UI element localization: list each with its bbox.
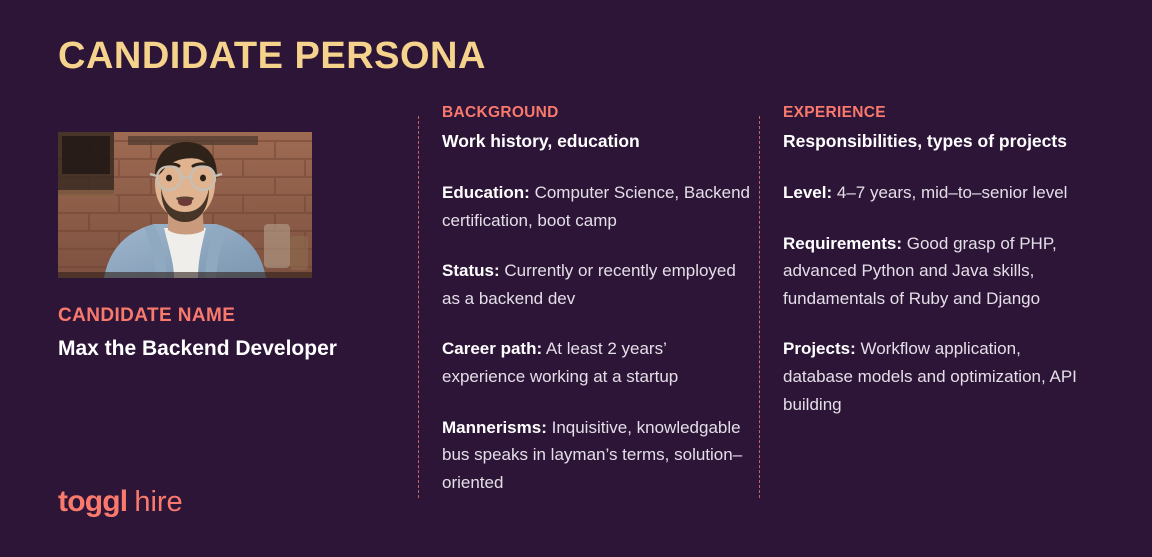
column-divider-2 [759,116,760,498]
entry-list: Education: Computer Science, Backend cer… [442,179,754,496]
entry-item: Status: Currently or recently employed a… [442,257,754,312]
logo-secondary-text: hire [134,488,182,517]
entry-label: Projects: [783,339,856,358]
column-kicker: BACKGROUND [442,104,754,123]
entry-label: Requirements: [783,234,902,253]
entry-item: Education: Computer Science, Backend cer… [442,179,754,234]
entry-label: Status: [442,261,500,280]
candidate-name-value: Max the Backend Developer [58,336,398,362]
entry-text: 4–7 years, mid–to–senior level [832,183,1067,202]
column-divider-1 [418,116,419,498]
entry-item: Projects: Workflow application, database… [783,335,1095,418]
entry-label: Education: [442,183,530,202]
column-subtitle: Work history, education [442,130,754,153]
entry-label: Career path: [442,339,542,358]
entry-item: Career path: At least 2 years’ experienc… [442,335,754,390]
column-kicker: EXPERIENCE [783,104,1095,123]
candidate-name-label: CANDIDATE NAME [58,305,398,328]
column-experience: EXPERIENCE Responsibilities, types of pr… [783,104,1095,418]
page-title: CANDIDATE PERSONA [58,36,486,78]
logo-primary-text: toggl [58,487,127,517]
candidate-photo [58,132,312,278]
entry-item: Requirements: Good grasp of PHP, advance… [783,230,1095,313]
toggl-hire-logo: toggl hire [58,487,183,517]
column-subtitle: Responsibilities, types of projects [783,130,1095,153]
profile-panel: CANDIDATE NAME Max the Backend Developer [58,132,398,362]
column-background: BACKGROUND Work history, education Educa… [442,104,754,496]
entry-item: Mannerisms: Inquisitive, knowledgable bu… [442,414,754,497]
entry-label: Level: [783,183,832,202]
persona-slide: CANDIDATE PERSONA [0,0,1152,557]
entry-list: Level: 4–7 years, mid–to–senior level Re… [783,179,1095,418]
portrait-illustration [58,132,312,278]
entry-label: Mannerisms: [442,418,547,437]
entry-item: Level: 4–7 years, mid–to–senior level [783,179,1095,207]
